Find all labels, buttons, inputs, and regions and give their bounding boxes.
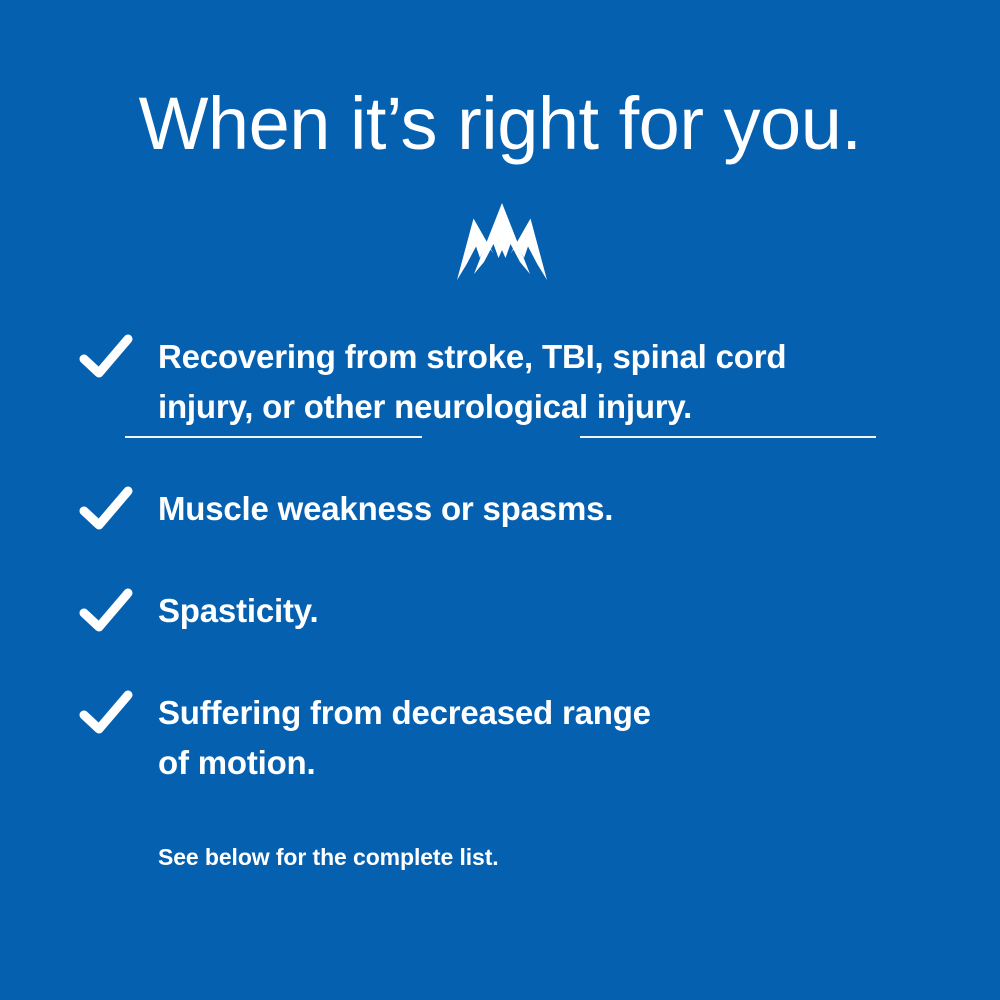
- list-item: Spasticity.: [78, 586, 958, 636]
- list-item-label: Suffering from decreased range of motion…: [158, 688, 651, 788]
- list-item: Suffering from decreased range of motion…: [78, 688, 958, 788]
- list-item-label: Spasticity.: [158, 586, 318, 636]
- list-item: Recovering from stroke, TBI, spinal cord…: [78, 332, 958, 432]
- divider: [0, 196, 1000, 288]
- checkmark-icon: [78, 484, 134, 534]
- benefit-list: Recovering from stroke, TBI, spinal cord…: [78, 332, 958, 788]
- list-item: Muscle weakness or spasms.: [78, 484, 958, 534]
- checkmark-icon: [78, 688, 134, 738]
- promo-card: When it’s right for you. Recovering fro: [0, 0, 1000, 1000]
- footer-note: See below for the complete list.: [158, 842, 499, 872]
- list-item-label: Recovering from stroke, TBI, spinal cord…: [158, 332, 786, 432]
- checkmark-icon: [78, 332, 134, 382]
- list-item-label: Muscle weakness or spasms.: [158, 484, 613, 534]
- page-title: When it’s right for you.: [0, 84, 1000, 164]
- mountain-peaks-icon: [437, 196, 567, 288]
- checkmark-icon: [78, 586, 134, 636]
